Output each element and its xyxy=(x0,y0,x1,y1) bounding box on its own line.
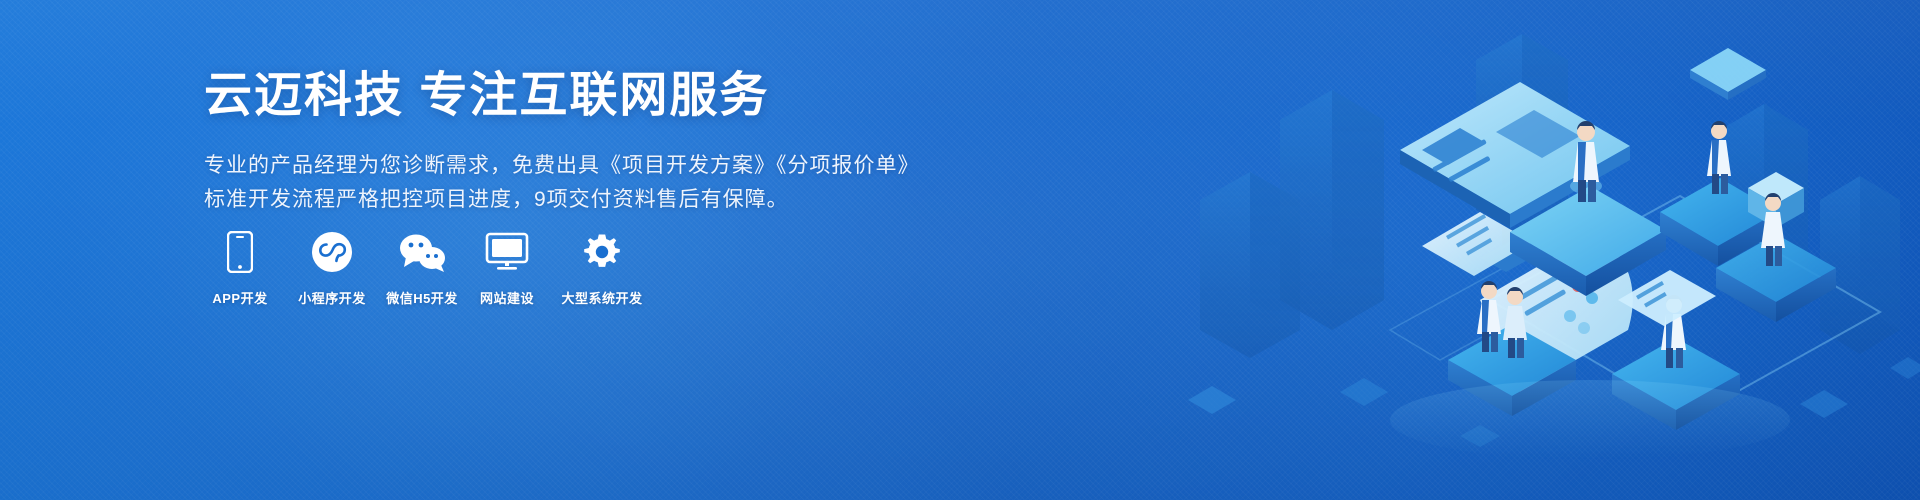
subtitle-line-2: 标准开发流程严格把控项目进度，9项交付资料售后有保障。 xyxy=(204,183,904,217)
page-title: 云迈科技 专注互联网服务 xyxy=(204,68,904,123)
floor-glow xyxy=(1390,380,1790,460)
service-item-app[interactable]: APP开发 xyxy=(204,230,276,307)
service-item-website[interactable]: 网站建设 xyxy=(470,230,544,307)
hero-subtitle: 专业的产品经理为您诊断需求，免费出具《项目开发方案》《分项报价单》 标准开发流程… xyxy=(204,149,904,217)
mini-program-icon xyxy=(311,230,353,274)
service-list: APP开发 小程序开发 xyxy=(204,230,650,307)
service-label: 大型系统开发 xyxy=(561,288,642,307)
service-label: 网站建设 xyxy=(480,288,534,307)
hero-banner: 云迈科技 专注互联网服务 专业的产品经理为您诊断需求，免费出具《项目开发方案》《… xyxy=(0,0,1920,500)
service-label: 微信H5开发 xyxy=(386,288,458,307)
service-label: APP开发 xyxy=(212,288,267,307)
side-chart-panel xyxy=(1618,270,1716,326)
service-item-large-system[interactable]: 大型系统开发 xyxy=(554,230,650,307)
floating-chart-card xyxy=(1690,48,1766,100)
illustration xyxy=(1160,0,1920,500)
monitor-icon xyxy=(485,230,529,274)
gear-icon xyxy=(581,230,623,274)
subtitle-line-1: 专业的产品经理为您诊断需求，免费出具《项目开发方案》《分项报价单》 xyxy=(204,149,904,183)
mobile-phone-icon xyxy=(227,230,253,274)
wechat-icon xyxy=(398,230,446,274)
service-label: 小程序开发 xyxy=(298,288,366,307)
service-item-miniprogram[interactable]: 小程序开发 xyxy=(292,230,372,307)
service-item-wechat-h5[interactable]: 微信H5开发 xyxy=(382,230,462,307)
hero-copy: 云迈科技 专注互联网服务 专业的产品经理为您诊断需求，免费出具《项目开发方案》《… xyxy=(204,68,904,217)
